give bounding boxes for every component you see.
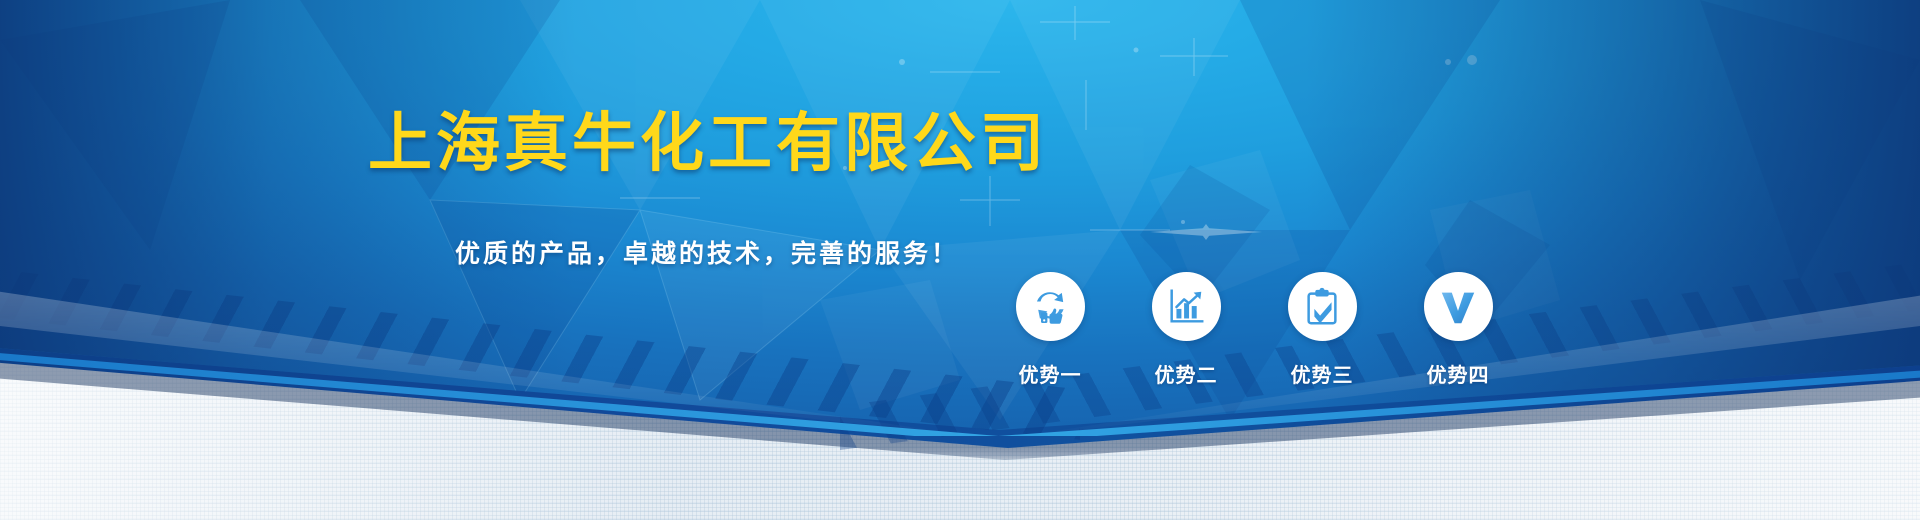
advantage-list: 优势一: [1015, 272, 1493, 388]
refresh-thumbs-up-icon: [1028, 285, 1072, 329]
advantage-item-1[interactable]: 优势一: [1015, 272, 1085, 388]
advantage-icon-circle-3: [1288, 272, 1357, 341]
advantage-icon-circle-4: [1424, 272, 1493, 341]
advantage-label-4: 优势四: [1427, 359, 1490, 388]
advantage-icon-circle-1: [1016, 272, 1085, 341]
advantage-item-2[interactable]: 优势二: [1151, 272, 1221, 388]
v-checkmark-icon: [1437, 286, 1479, 328]
clipboard-check-icon: [1301, 286, 1343, 328]
banner-subtitle: 优质的产品，卓越的技术，完善的服务！: [455, 234, 959, 270]
advantage-icon-circle-2: [1152, 272, 1221, 341]
page-title: 上海真牛化工有限公司: [368, 92, 1048, 184]
company-hero-banner: 上海真牛化工有限公司 优质的产品，卓越的技术，完善的服务！: [0, 0, 1920, 520]
bar-chart-growth-icon: [1165, 286, 1207, 328]
advantage-label-2: 优势二: [1155, 359, 1218, 388]
advantage-item-3[interactable]: 优势三: [1287, 272, 1357, 388]
advantage-label-3: 优势三: [1291, 359, 1354, 388]
advantage-label-1: 优势一: [1019, 359, 1082, 388]
advantage-item-4[interactable]: 优势四: [1423, 272, 1493, 388]
banner-content: 上海真牛化工有限公司 优质的产品，卓越的技术，完善的服务！: [0, 0, 1920, 520]
